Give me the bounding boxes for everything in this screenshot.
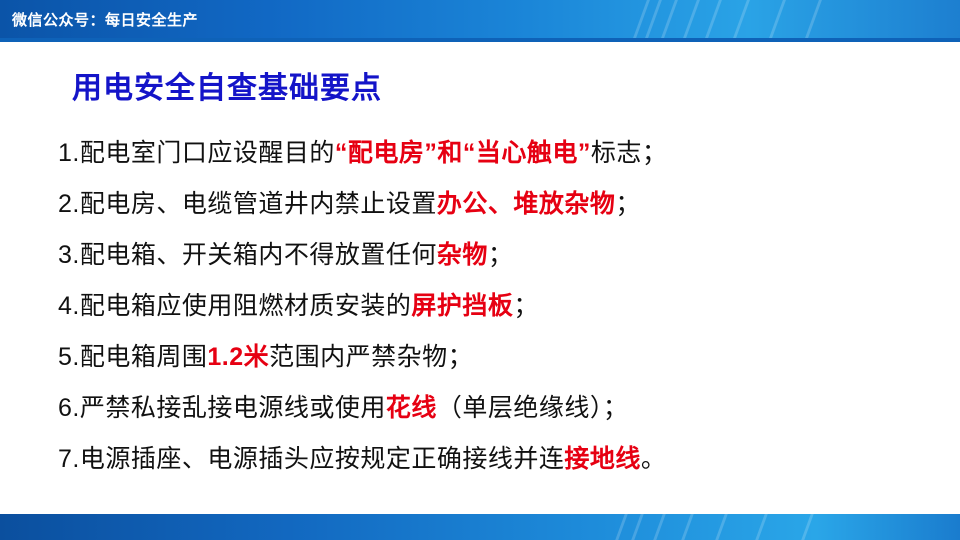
list-item-highlight: 1.2米: [207, 343, 269, 371]
page-title: 用电安全自查基础要点: [72, 63, 382, 107]
list-item: 1.配电室门口应设醒目的“配电房”和“当心触电”标志；: [58, 128, 918, 179]
list-item: 2.配电房、电缆管道井内禁止设置办公、堆放杂物；: [58, 179, 918, 230]
bottom-banner: [0, 514, 960, 540]
list-item: 4.配电箱应使用阻燃材质安装的屏护挡板；: [58, 281, 918, 332]
list-item-number: 7.: [58, 445, 80, 473]
banner-stripe: [661, 0, 678, 38]
list-item-highlight: “配电房”和“当心触电”: [335, 139, 591, 167]
slide: 微信公众号：每日安全生产 用电安全自查基础要点 1.配电室门口应设醒目的“配电房…: [0, 0, 960, 540]
list-item: 6.严禁私接乱接电源线或使用花线（单层绝缘线）；: [58, 383, 918, 434]
list-item-text: 配电室门口应设醒目的: [80, 139, 335, 167]
banner-stripe: [801, 514, 813, 540]
list-item-number: 1.: [58, 139, 80, 167]
list-item-text: 电源插座、电源插头应按规定正确接线并连: [80, 445, 565, 473]
account-label: 微信公众号：每日安全生产: [12, 9, 198, 30]
list-item-text: 标志；: [591, 139, 668, 167]
banner-stripe: [683, 0, 700, 38]
banner-stripe: [615, 514, 627, 540]
list-item: 5.配电箱周围1.2米范围内严禁杂物；: [58, 332, 918, 383]
banner-stripe: [733, 0, 750, 38]
list-item-text: ；: [615, 190, 641, 218]
list-item-text: 配电箱周围: [80, 343, 208, 371]
list-item-text: 范围内严禁杂物；: [269, 343, 473, 371]
list-item-highlight: 屏护挡板: [411, 292, 513, 320]
list-item-number: 4.: [58, 292, 80, 320]
list-item-number: 5.: [58, 343, 80, 371]
list-item-number: 2.: [58, 190, 80, 218]
banner-stripe: [631, 514, 643, 540]
list-item-highlight: 花线: [386, 394, 437, 422]
banner-stripe: [755, 514, 767, 540]
list-item-text: 。: [641, 445, 667, 473]
list-item-text: 配电房、电缆管道井内禁止设置: [80, 190, 437, 218]
banner-stripe: [715, 514, 727, 540]
banner-stripe: [681, 514, 693, 540]
list-item-highlight: 接地线: [564, 445, 641, 473]
list-item-text: ；: [488, 241, 514, 269]
list-item-number: 3.: [58, 241, 80, 269]
list-item: 7.电源插座、电源插头应按规定正确接线并连接地线。: [58, 434, 918, 485]
header-divider: [0, 38, 960, 42]
banner-stripe: [653, 514, 665, 540]
list-item-text: ；: [513, 292, 539, 320]
banner-stripe: [705, 0, 722, 38]
list-item-text: 严禁私接乱接电源线或使用: [80, 394, 386, 422]
list-item-text: （单层绝缘线）；: [437, 394, 629, 422]
list-item-number: 6.: [58, 394, 80, 422]
list-item-highlight: 杂物: [437, 241, 488, 269]
list-item-highlight: 办公、堆放杂物: [437, 190, 616, 218]
banner-stripe: [805, 0, 822, 38]
top-banner: 微信公众号：每日安全生产: [0, 0, 960, 38]
list-item-text: 配电箱、开关箱内不得放置任何: [80, 241, 437, 269]
list-item-text: 配电箱应使用阻燃材质安装的: [80, 292, 412, 320]
list-item: 3.配电箱、开关箱内不得放置任何杂物；: [58, 230, 918, 281]
checklist: 1.配电室门口应设醒目的“配电房”和“当心触电”标志；2.配电房、电缆管道井内禁…: [58, 128, 918, 485]
banner-stripe: [769, 0, 786, 38]
